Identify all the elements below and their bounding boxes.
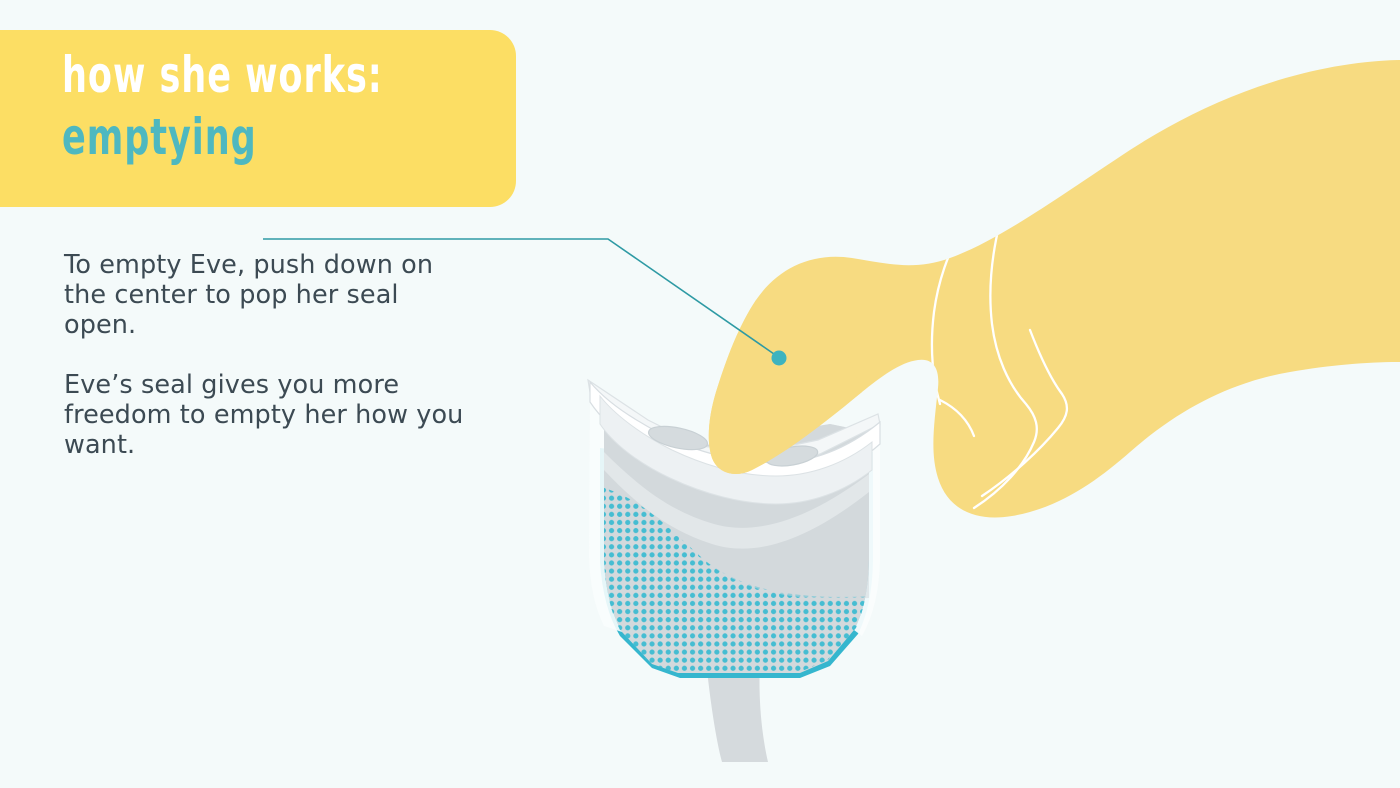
callout-leader [0, 0, 1400, 788]
callout-leader-line [263, 239, 774, 354]
callout-target-dot [772, 351, 787, 366]
slide-canvas: how she works: emptying To empty Eve, pu… [0, 0, 1400, 788]
